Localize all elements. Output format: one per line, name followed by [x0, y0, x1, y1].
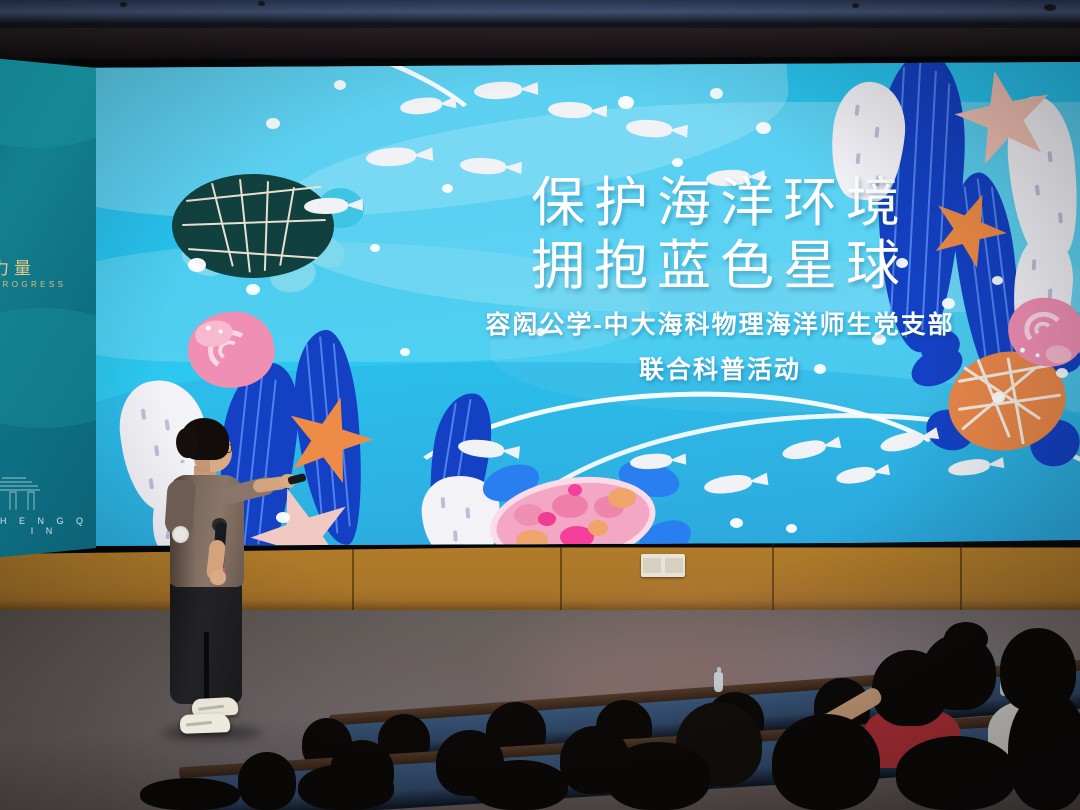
banner-english-text: RLD PROGRESS — [0, 280, 96, 289]
switch-rocker[interactable] — [665, 558, 683, 573]
bubble-icon — [672, 158, 683, 167]
ceiling-fixture-icon — [852, 3, 859, 8]
water-bottle-icon — [714, 672, 723, 692]
gate-icon — [0, 472, 48, 512]
presenter-leg-gap — [204, 632, 209, 704]
ceiling-fixture-icon — [1044, 4, 1056, 11]
bubble-icon — [618, 96, 634, 109]
auditorium-photo: 保护海洋环境 拥抱蓝色星球 容闳公学-中大海科物理海洋师生党支部 联合科普活动 … — [0, 0, 1080, 810]
slide-title-line1: 保护海洋环境 — [400, 172, 1040, 235]
bubble-icon — [370, 244, 380, 252]
bubble-icon — [756, 122, 771, 134]
turtle-icon — [166, 166, 366, 296]
wall-light-switch[interactable] — [641, 554, 685, 577]
audience-head — [298, 764, 394, 810]
audience-head — [772, 714, 880, 810]
banner-arc — [0, 308, 96, 428]
banner-location-text: H E N G Q I N — [0, 516, 94, 536]
bubble-icon — [786, 524, 797, 533]
audience-head — [1008, 690, 1080, 810]
slide-subtitle-line2: 联合科普活动 — [400, 354, 1040, 387]
banner-arc — [0, 58, 96, 148]
fish-icon — [304, 197, 349, 215]
fish-icon — [365, 146, 416, 167]
presenter-badge — [172, 526, 189, 543]
audience-head — [606, 742, 710, 810]
audience-head — [872, 650, 948, 726]
banner-chinese-text: 极力量 — [0, 254, 96, 279]
rollup-banner: 极力量 RLD PROGRESS H E N G Q I N — [0, 58, 96, 558]
bubble-icon — [266, 118, 280, 129]
bubble-icon — [992, 392, 1005, 403]
presenter — [152, 418, 282, 738]
bubble-icon — [710, 88, 723, 99]
audience-head — [140, 778, 240, 810]
turtle-icon — [468, 460, 688, 546]
slide-subtitle-line1: 容闳公学-中大海科物理海洋师生党支部 — [400, 309, 1040, 342]
fish-icon — [630, 453, 673, 471]
bubble-icon — [730, 518, 743, 528]
bubble-icon — [188, 258, 206, 272]
audience-head — [238, 752, 296, 810]
audience-head — [472, 760, 568, 810]
ceiling-fixture-icon — [258, 1, 265, 6]
audience-hair-bun — [944, 622, 988, 656]
audience-head — [896, 736, 1016, 810]
presenter-shoe — [180, 713, 231, 734]
bubble-icon — [246, 284, 260, 295]
fish-icon — [548, 101, 593, 119]
slide-text-block: 保护海洋环境 拥抱蓝色星球 容闳公学-中大海科物理海洋师生党支部 联合科普活动 — [400, 172, 1040, 386]
bubble-icon — [1056, 368, 1068, 378]
fish-icon — [474, 81, 523, 100]
ceiling-fixture-icon — [120, 2, 127, 7]
bubble-icon — [334, 80, 346, 90]
fish-icon — [625, 118, 672, 138]
slide-title-line2: 拥抱蓝色星球 — [400, 235, 1040, 298]
presenter-left-hand — [210, 570, 226, 585]
switch-rocker[interactable] — [643, 558, 661, 573]
